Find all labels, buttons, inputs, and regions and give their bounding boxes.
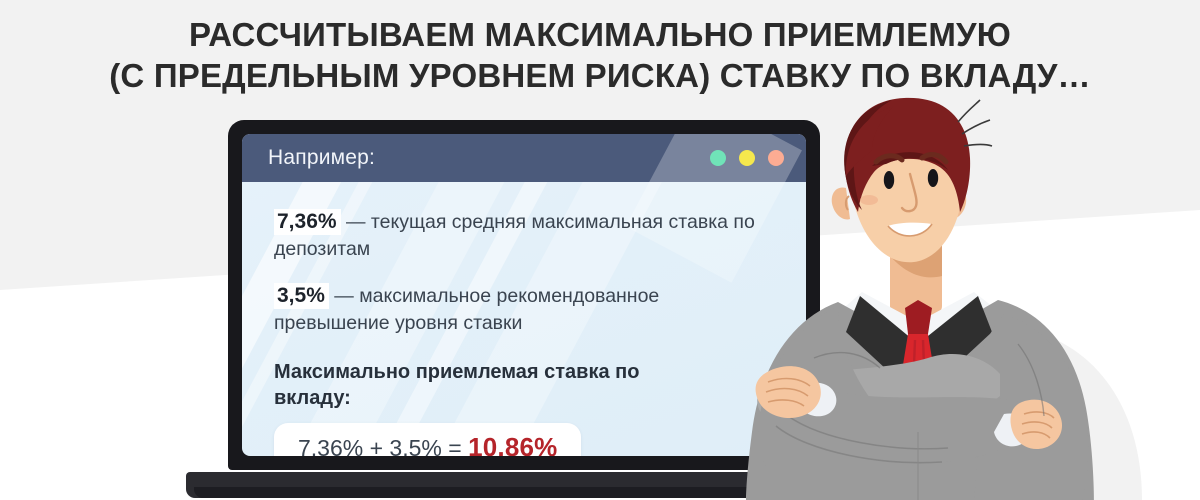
laptop-illustration: Например: 7,36% — текущая средняя максим… xyxy=(228,120,820,470)
window-titlebar: Например: xyxy=(242,134,806,182)
fact-1-value: 7,36% xyxy=(274,209,341,235)
formula-expression: 7,36% + 3,5% = xyxy=(298,435,468,456)
page-title-line-2: (С ПРЕДЕЛЬНЫМ УРОВНЕМ РИСКА) СТАВКУ ПО В… xyxy=(0,55,1200,96)
businessman-illustration xyxy=(742,96,1172,500)
fact-2-text: — максимальное рекомендованное превышени… xyxy=(274,285,659,334)
window-title: Например: xyxy=(268,146,710,170)
minimize-button-icon[interactable] xyxy=(710,150,726,166)
fact-1-text: — текущая средняя максимальная ставка по… xyxy=(274,211,755,260)
page-title: РАССЧИТЫВАЕМ МАКСИМАЛЬНО ПРИЕМЛЕМУЮ (С П… xyxy=(0,14,1200,96)
fact-row-2: 3,5% — максимальное рекомендованное прев… xyxy=(274,282,774,337)
laptop-screen: Например: 7,36% — текущая средняя максим… xyxy=(242,134,806,456)
screen-content: 7,36% — текущая средняя максимальная ста… xyxy=(242,182,806,456)
page-title-line-1: РАССЧИТЫВАЕМ МАКСИМАЛЬНО ПРИЕМЛЕМУЮ xyxy=(0,14,1200,55)
result-formula-chip: 7,36% + 3,5% = 10,86% xyxy=(274,423,581,456)
fact-2-value: 3,5% xyxy=(274,283,329,309)
fact-row-1: 7,36% — текущая средняя максимальная ста… xyxy=(274,208,774,263)
formula-total: 10,86% xyxy=(468,432,557,456)
result-subheading: Максимально приемлемая ставка по вкладу: xyxy=(274,359,714,411)
